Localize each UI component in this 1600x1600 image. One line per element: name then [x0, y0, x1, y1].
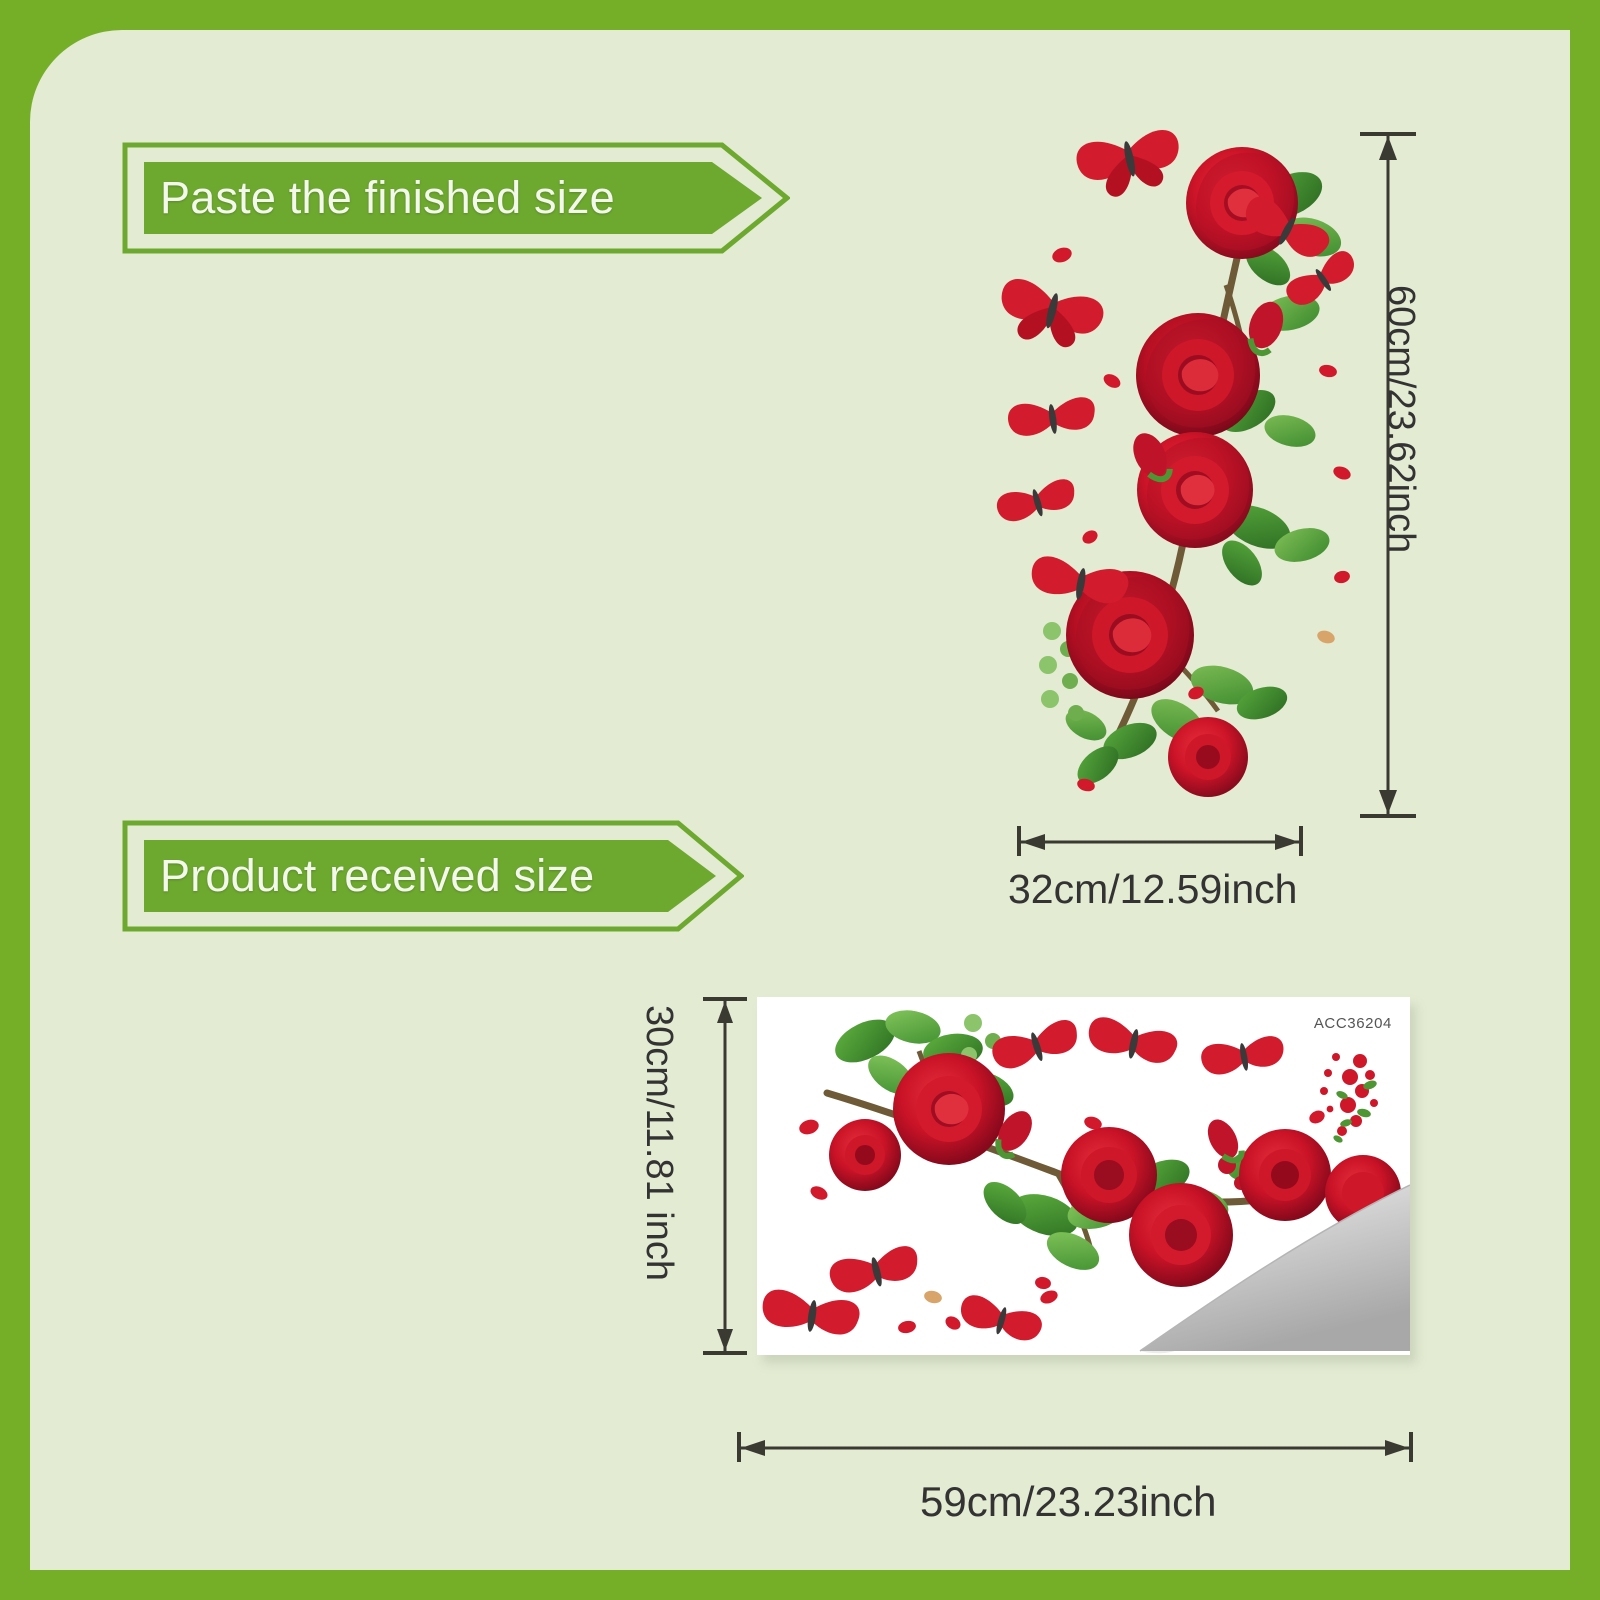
banner-paste-finished-size: Paste the finished size: [122, 142, 790, 254]
banner-received-label: Product received size: [160, 820, 594, 932]
rose-butterfly-artwork-finished: [990, 125, 1360, 825]
sheet-preview-thumbnail: [1298, 1043, 1394, 1147]
dimension-finished-height-label: 60cm/23.62inch: [1379, 285, 1422, 553]
product-code: ACC36204: [1314, 1015, 1392, 1032]
sticker-sheet: ACC36204: [757, 997, 1410, 1355]
banner-paste-label: Paste the finished size: [160, 142, 615, 254]
dimension-received-width-label: 59cm/23.23inch: [920, 1478, 1217, 1526]
dimension-received-height: [695, 995, 751, 1357]
content-panel: Paste the finished size Product received…: [30, 30, 1570, 1570]
dimension-received-height-label: 30cm/11.81 inch: [637, 1005, 680, 1281]
banner-product-received-size: Product received size: [122, 820, 744, 932]
dimension-received-width: [735, 1428, 1415, 1468]
peeling-corner: [1110, 1155, 1410, 1355]
dimension-finished-width-label: 32cm/12.59inch: [1008, 866, 1297, 913]
dimension-finished-width: [1015, 820, 1305, 862]
